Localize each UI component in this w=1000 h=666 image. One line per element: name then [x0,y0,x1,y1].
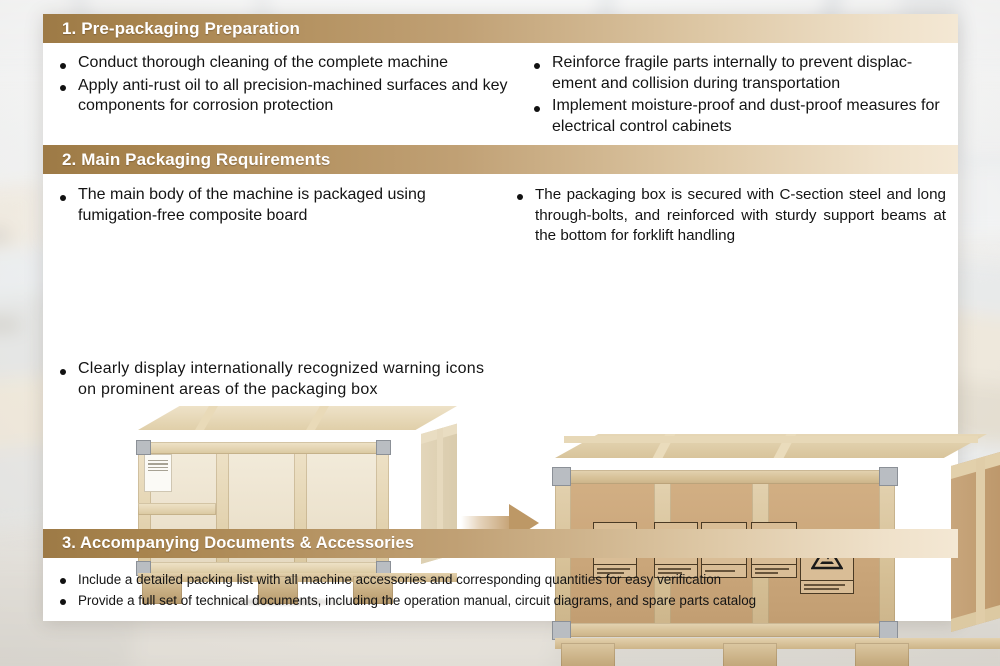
slide-root: 1. Pre-packaging Preparation Conduct tho… [0,0,1000,666]
list-item: Include a detailed packing list with all… [56,570,958,589]
section1-left-column: Conduct thorough cleaning of the complet… [43,53,513,139]
section2-left-column: The main body of the machine is packaged… [43,174,505,529]
bullet-list: The packaging box is secured with C-sect… [513,174,958,247]
bullet-list: Reinforce fragile parts internally to pr… [530,53,953,137]
list-item: Apply anti-rust oil to all precision-mac… [56,76,513,117]
list-item: Reinforce fragile parts internally to pr… [530,53,953,94]
bullet-list: Clearly display internationally recogniz… [56,359,486,402]
section-body-pre-packaging: Conduct thorough cleaning of the complet… [43,43,958,145]
section-title: 3. Accompanying Documents & Accessories [62,534,414,553]
section1-right-column: Reinforce fragile parts internally to pr… [513,53,953,139]
section-header-pre-packaging: 1. Pre-packaging Preparation [43,14,958,43]
section-body-main-packaging: The main body of the machine is packaged… [43,174,958,529]
labelled-wooden-crate-image [555,452,953,666]
list-item: Conduct thorough cleaning of the complet… [56,53,513,74]
section-title: 1. Pre-packaging Preparation [62,19,300,39]
bullet-list: The main body of the machine is packaged… [56,174,505,226]
section-header-main-packaging: 2. Main Packaging Requirements [43,145,958,174]
list-item: Clearly display internationally recogniz… [56,359,486,400]
content-card: 1. Pre-packaging Preparation Conduct tho… [43,14,958,621]
list-item: Provide a full set of technical document… [56,591,958,610]
list-item: The main body of the machine is packaged… [56,185,505,226]
list-item: The packaging box is secured with C-sect… [513,185,946,247]
section-header-documents: 3. Accompanying Documents & Accessories [43,529,958,558]
bullet-list: Conduct thorough cleaning of the complet… [56,53,513,117]
list-item: Implement moisture-proof and dust-proof … [530,96,953,137]
section-title: 2. Main Packaging Requirements [62,150,330,170]
